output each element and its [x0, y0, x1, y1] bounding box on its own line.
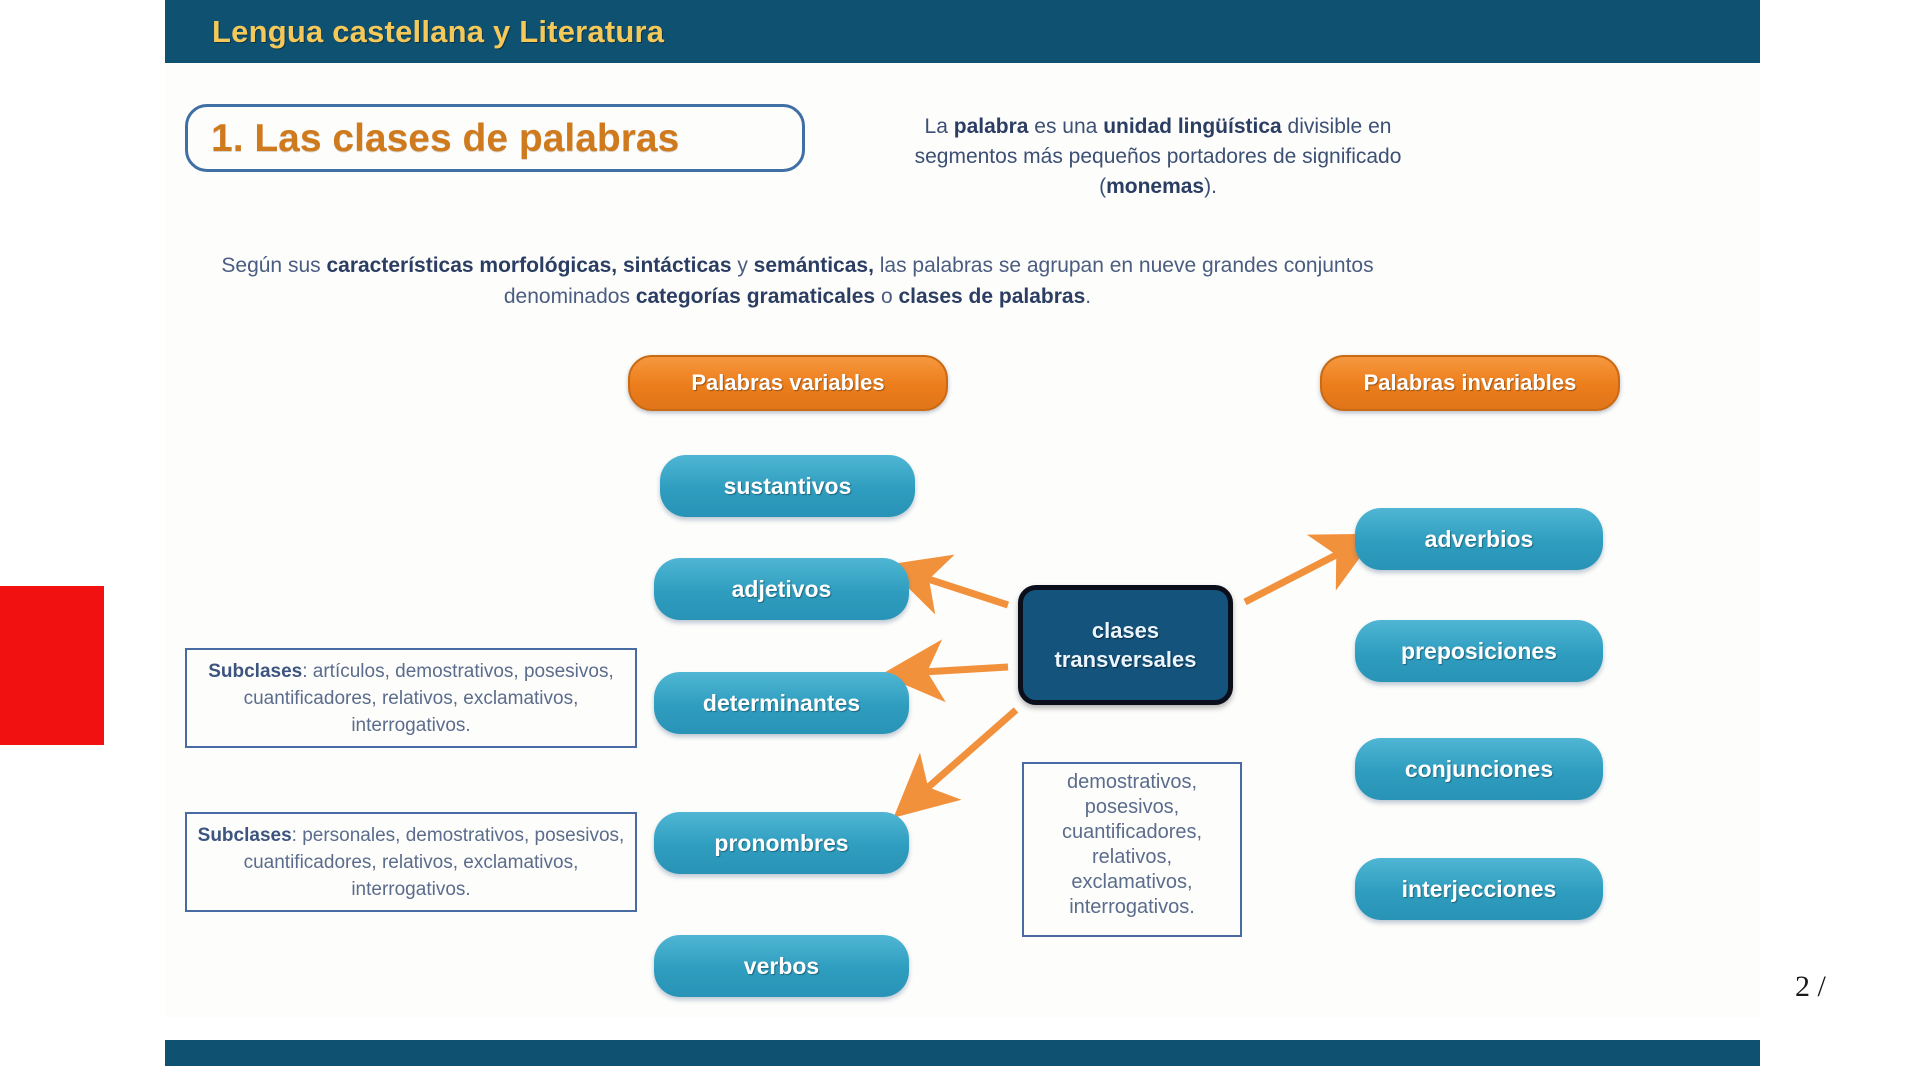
- pill-pronombres[interactable]: pronombres: [654, 812, 909, 874]
- group-label-palabras-variables[interactable]: Palabras variables: [628, 355, 948, 411]
- node-clases-transversales[interactable]: clases transversales: [1018, 585, 1233, 705]
- node-line-1: clases: [1092, 616, 1159, 645]
- note-subclases-determinantes: Subclases: artículos, demostrativos, pos…: [185, 648, 637, 748]
- node-line-2: transversales: [1055, 645, 1197, 674]
- note-clases-transversales-list: demostrativos,posesivos,cuantificadores,…: [1022, 762, 1242, 937]
- arrow-to-adverbios: [1245, 553, 1340, 602]
- pill-determinantes[interactable]: determinantes: [654, 672, 909, 734]
- arrow-to-pronombres: [925, 710, 1016, 790]
- arrow-to-determinantes: [923, 667, 1008, 672]
- arrow-to-adjetivos: [925, 578, 1008, 605]
- pill-adverbios[interactable]: adverbios: [1355, 508, 1603, 570]
- pill-verbos[interactable]: verbos: [654, 935, 909, 997]
- note-subclases-pronombres: Subclases: personales, demostrativos, po…: [185, 812, 637, 912]
- pill-adjetivos[interactable]: adjetivos: [654, 558, 909, 620]
- pill-sustantivos[interactable]: sustantivos: [660, 455, 915, 517]
- group-label-palabras-invariables[interactable]: Palabras invariables: [1320, 355, 1620, 411]
- pill-interjecciones[interactable]: interjecciones: [1355, 858, 1603, 920]
- pill-preposiciones[interactable]: preposiciones: [1355, 620, 1603, 682]
- pill-conjunciones[interactable]: conjunciones: [1355, 738, 1603, 800]
- arrow-layer: [0, 0, 1920, 1080]
